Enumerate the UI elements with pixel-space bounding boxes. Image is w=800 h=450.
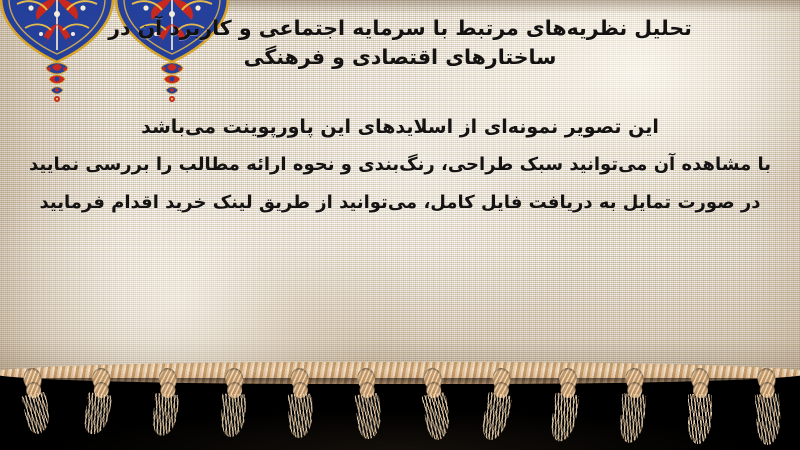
slide-title-line-2: ساختارهای اقتصادی و فرهنگی [18, 43, 782, 72]
slide-body: این تصویر نمونه‌ای از اسلایدهای این پاور… [0, 108, 800, 222]
slide-title: تحلیل نظریه‌های مرتبط با سرمایه اجتماعی … [0, 14, 800, 72]
fringe-tassel [351, 366, 383, 445]
slide-text-layer: تحلیل نظریه‌های مرتبط با سرمایه اجتماعی … [0, 0, 800, 378]
tassel-skirt [21, 392, 52, 436]
fringe-tassel [151, 366, 183, 445]
tassel-skirt [619, 393, 646, 443]
tassel-skirt [688, 394, 712, 444]
fringe-tassel [483, 365, 517, 445]
tassel-skirt [480, 392, 513, 443]
tassel-skirt [549, 392, 579, 443]
body-line-sample-notice: این تصویر نمونه‌ای از اسلایدهای این پاور… [24, 108, 776, 146]
presentation-slide: تحلیل نظریه‌های مرتبط با سرمایه اجتماعی … [0, 0, 800, 450]
fringe-rope-shadow [0, 378, 800, 388]
slide-title-line-1: تحلیل نظریه‌های مرتبط با سرمایه اجتماعی … [18, 14, 782, 43]
fringe-tassel [551, 365, 584, 444]
tassel-skirt [151, 393, 179, 437]
body-line-design-review: با مشاهده آن می‌توانید سبک طراحی، رنگ‌بن… [24, 146, 776, 184]
fringe-tassel [751, 366, 782, 445]
body-line-purchase-link: در صورت تمایل به دریافت فایل کامل، می‌تو… [24, 184, 776, 222]
tassel-skirt [421, 392, 452, 441]
tassel-skirt [755, 393, 782, 445]
tassel-skirt [355, 393, 383, 440]
fringe-tassel [16, 365, 50, 445]
fringe-tassel [618, 366, 649, 445]
fringe-tassel [685, 366, 715, 444]
tassel-skirt [220, 394, 245, 438]
fringe-tassel [83, 365, 117, 444]
fringe-tassel [285, 366, 316, 444]
tassel-skirt [82, 392, 112, 436]
carpet-fringe [0, 358, 800, 450]
fringe-tassel [417, 365, 451, 444]
fringe-tassel [218, 366, 249, 444]
tassel-skirt [288, 394, 313, 439]
